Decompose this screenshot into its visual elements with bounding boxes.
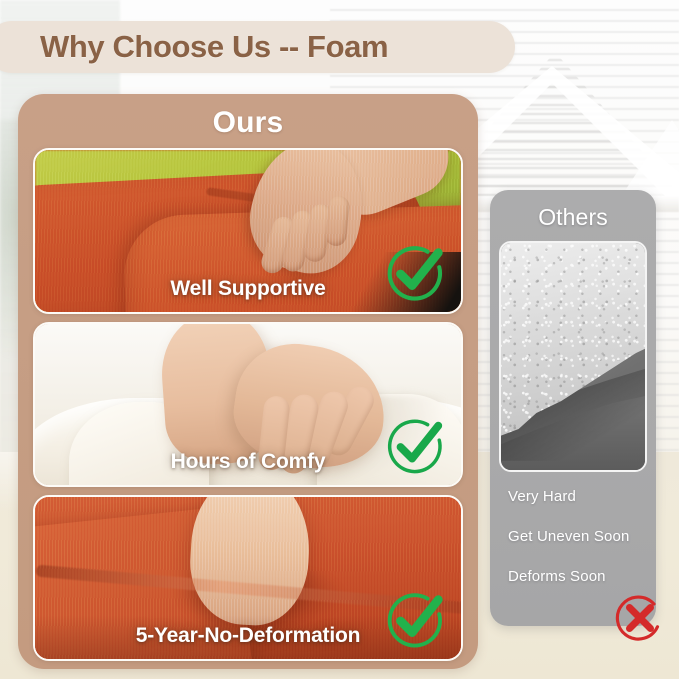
others-panel: Others Very Hard Get Uneven Soon Deforms… (490, 190, 656, 626)
others-item-very-hard: Very Hard (508, 488, 576, 505)
header-banner: Why Choose Us -- Foam (0, 21, 515, 73)
others-title: Others (538, 204, 608, 231)
others-foam-image (499, 241, 647, 472)
red-x-icon (612, 590, 668, 646)
ours-panel: Ours Well Supportive (18, 94, 478, 669)
green-check-icon (385, 589, 447, 651)
ours-card-hours-of-comfy: Hours of Comfy (33, 322, 463, 488)
ours-title: Ours (213, 106, 284, 140)
ours-card-well-supportive: Well Supportive (33, 148, 463, 314)
green-check-icon (385, 415, 447, 477)
others-item-get-uneven-soon: Get Uneven Soon (508, 528, 630, 545)
green-check-icon (385, 242, 447, 304)
page-title: Why Choose Us -- Foam (40, 29, 388, 65)
ours-card-no-deformation: 5-Year-No-Deformation (33, 495, 463, 661)
others-item-deforms-soon: Deforms Soon (508, 568, 606, 585)
infographic-canvas: Why Choose Us -- Foam Ours (0, 0, 679, 679)
